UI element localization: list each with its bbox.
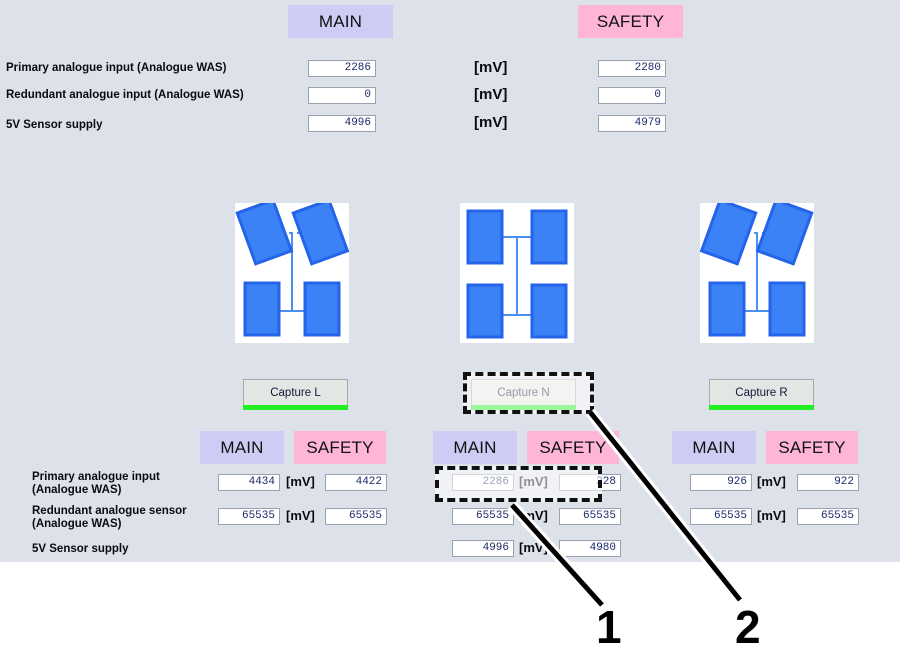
capture-l-button[interactable]: Capture L: [243, 379, 348, 407]
left-redundant-main-value[interactable]: 65535: [218, 508, 280, 525]
top-primary-unit: [mV]: [474, 59, 507, 76]
top-primary-safety-value[interactable]: 2280: [598, 60, 666, 77]
top-5v-safety-value[interactable]: 4979: [598, 115, 666, 132]
right-redundant-unit: [mV]: [757, 507, 786, 524]
right-redundant-main-value[interactable]: 65535: [690, 508, 752, 525]
right-header-safety: SAFETY: [766, 431, 858, 464]
top-5v-main-value[interactable]: 4996: [308, 115, 376, 132]
right-primary-safety-value[interactable]: 922: [797, 474, 859, 491]
top-header-main: MAIN: [288, 5, 393, 38]
neutral-header-main: MAIN: [433, 431, 517, 464]
capture-r-status-bar: [709, 405, 814, 410]
wheel-diagram-right: [700, 203, 814, 343]
right-primary-main-value[interactable]: 926: [690, 474, 752, 491]
right-primary-unit: [mV]: [757, 473, 786, 490]
left-primary-safety-value[interactable]: 4422: [325, 474, 387, 491]
neutral-redundant-safety-value[interactable]: 65535: [559, 508, 621, 525]
capture-l-status-bar: [243, 405, 348, 410]
neutral-redundant-unit: [mV]: [519, 507, 548, 524]
bottom-row-label-primary: Primary analogue input (Analogue WAS): [32, 471, 222, 497]
wheel-diagram-left: [235, 203, 349, 343]
annotation-highlight-capture-n: [463, 372, 594, 414]
annotation-number-1: 1: [596, 604, 622, 650]
top-row-label-redundant: Redundant analogue input (Analogue WAS): [6, 89, 296, 102]
top-header-safety: SAFETY: [578, 5, 683, 38]
capture-r-button[interactable]: Capture R: [709, 379, 814, 407]
left-primary-main-value[interactable]: 4434: [218, 474, 280, 491]
bottom-row-label-5v: 5V Sensor supply: [32, 543, 222, 556]
left-header-main: MAIN: [200, 431, 284, 464]
right-redundant-safety-value[interactable]: 65535: [797, 508, 859, 525]
neutral-5v-main-value[interactable]: 4996: [452, 540, 514, 557]
neutral-5v-unit: [mV]: [519, 539, 548, 556]
top-primary-main-value[interactable]: 2286: [308, 60, 376, 77]
annotation-highlight-primary-row: [435, 466, 602, 502]
left-redundant-safety-value[interactable]: 65535: [325, 508, 387, 525]
top-row-label-5v: 5V Sensor supply: [6, 119, 286, 132]
right-header-main: MAIN: [672, 431, 756, 464]
neutral-header-safety: SAFETY: [527, 431, 619, 464]
top-redundant-unit: [mV]: [474, 86, 507, 103]
neutral-5v-safety-value[interactable]: 4980: [559, 540, 621, 557]
neutral-redundant-main-value[interactable]: 65535: [452, 508, 514, 525]
wheel-diagram-neutral: [460, 203, 574, 343]
left-header-safety: SAFETY: [294, 431, 386, 464]
top-row-label-primary: Primary analogue input (Analogue WAS): [6, 62, 286, 75]
bottom-row-label-redundant: Redundant analogue sensor (Analogue WAS): [32, 505, 232, 531]
annotation-number-2: 2: [735, 604, 761, 650]
top-redundant-safety-value[interactable]: 0: [598, 87, 666, 104]
top-5v-unit: [mV]: [474, 114, 507, 131]
left-primary-unit: [mV]: [286, 473, 315, 490]
screenshot-root: MAIN SAFETY Primary analogue input (Anal…: [0, 0, 900, 646]
top-redundant-main-value[interactable]: 0: [308, 87, 376, 104]
left-redundant-unit: [mV]: [286, 507, 315, 524]
